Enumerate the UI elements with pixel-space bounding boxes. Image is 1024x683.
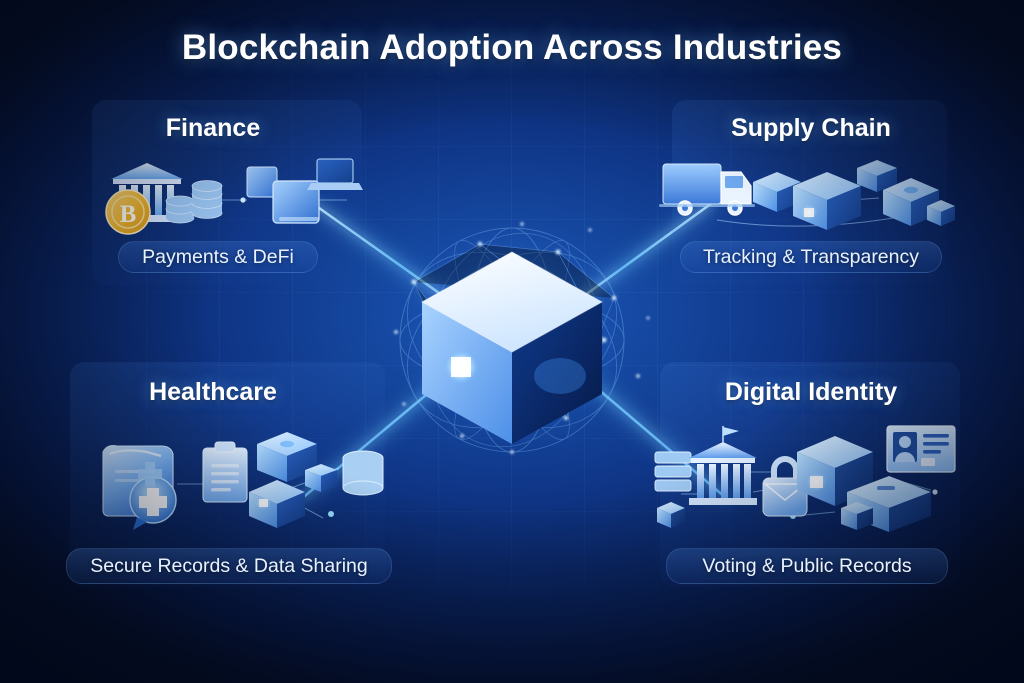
caption-finance: Payments & DeFi [118,241,318,273]
wire-node [240,197,245,202]
finance-illustration: B [95,145,360,240]
blockchain-cube-icon [793,172,861,230]
caption-supply-chain: Tracking & Transparency [680,241,942,273]
coin-stack-icon [166,181,222,223]
database-icon [343,451,383,495]
svg-text:B: B [120,201,137,228]
id-card-icon [887,426,955,472]
bitcoin-coin-icon: B [106,190,150,234]
caption-healthcare: Secure Records & Data Sharing [66,548,392,584]
blockchain-core [352,190,672,490]
infographic-canvas: B [0,0,1024,683]
blockchain-cube-icon [657,502,685,528]
government-building-icon [689,426,757,505]
caption-digital-identity: Voting & Public Records [666,548,948,584]
healthcare-illustration [95,418,385,543]
page-title: Blockchain Adoption Across Industries [0,28,1024,68]
digital-identity-illustration [645,420,960,540]
blockchain-cube-icon [249,480,305,528]
heading-finance: Finance [0,114,426,143]
heading-healthcare: Healthcare [0,378,426,407]
delivery-truck-icon [659,164,755,215]
server-icon [655,452,691,491]
laptop-icon [307,159,363,190]
heading-supply-chain: Supply Chain [598,114,1024,143]
supply-chain-illustration [655,142,945,242]
clipboard-icon [203,442,247,502]
heading-digital-identity: Digital Identity [598,378,1024,407]
blockchain-cube-icon [841,502,873,530]
blockchain-cube-icon [305,464,337,492]
